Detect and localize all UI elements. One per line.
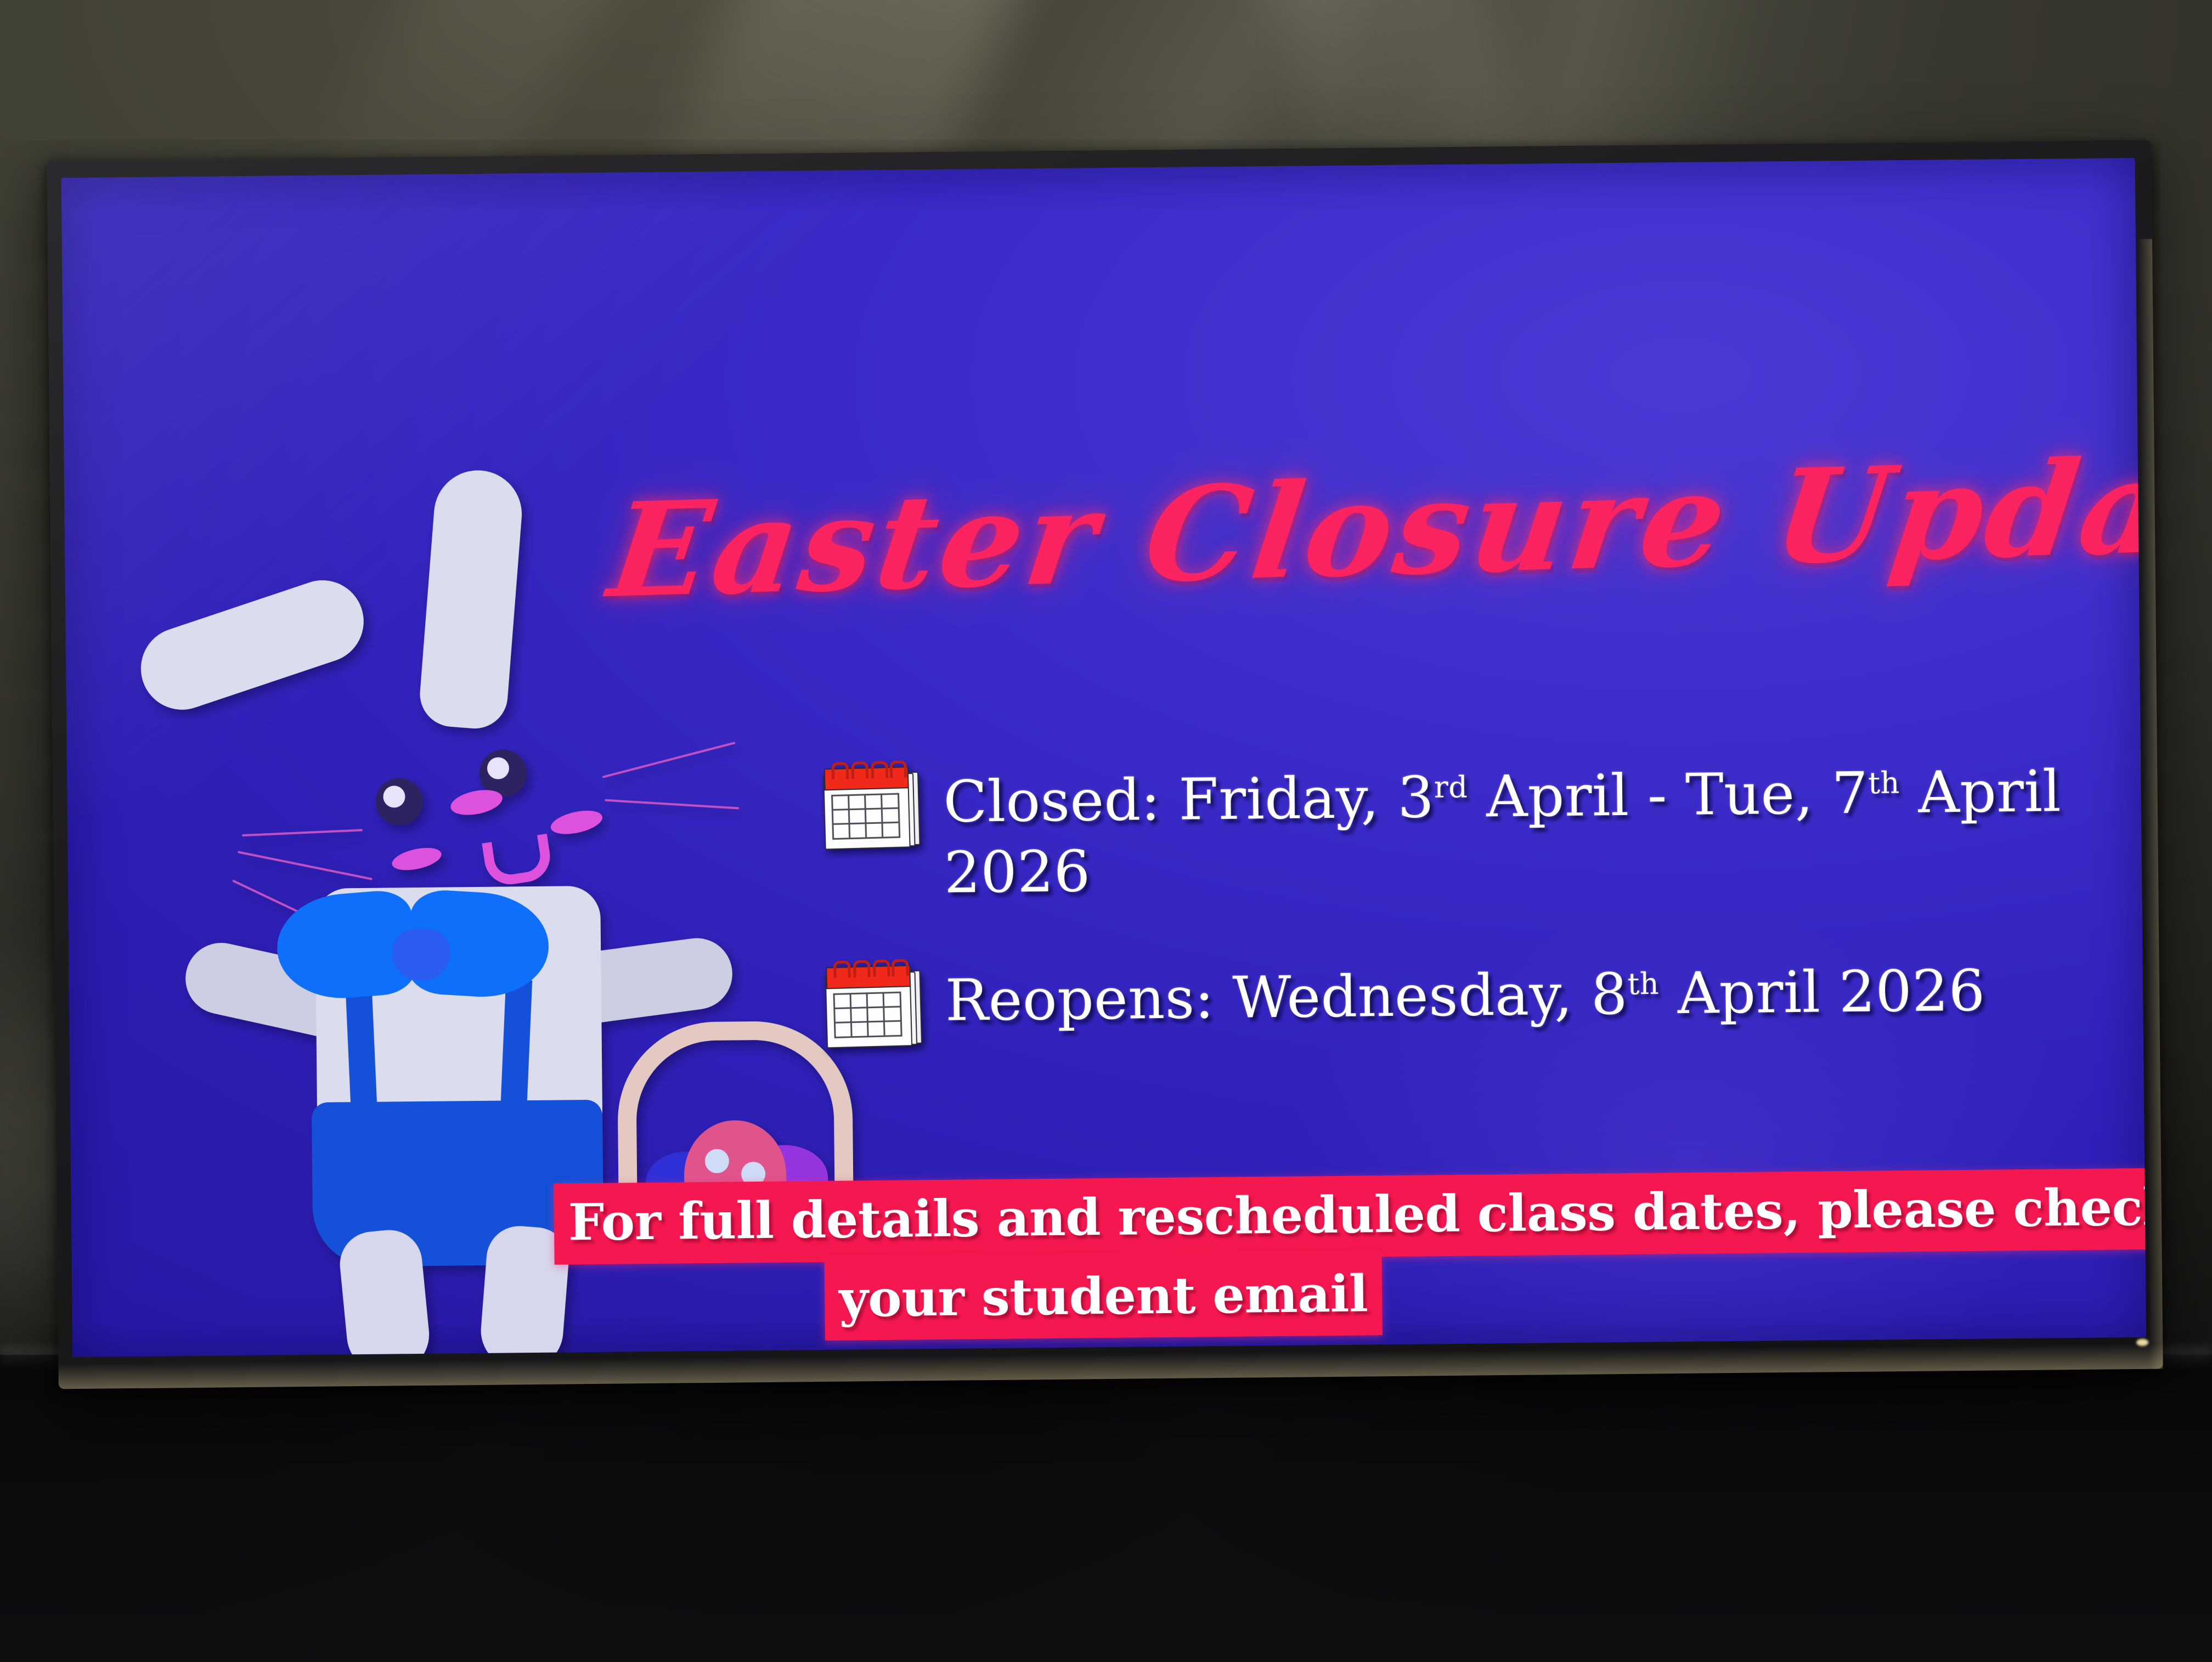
bullet-item-closed: Closed: Friday, 3rd April - Tue, 7th Apr… [821, 748, 2146, 909]
reopens-suffix: April 2026 [1659, 957, 1985, 1027]
bunny-eye-highlight [487, 757, 509, 779]
calendar-icon [820, 759, 919, 858]
closed-prefix: Closed: Friday, 3 [943, 764, 1435, 835]
lower-dark-area [0, 1355, 2212, 1662]
bunny-eye-highlight [383, 785, 405, 807]
closed-ordinal-2: th [1868, 765, 1900, 800]
bullet-text-reopens: Reopens: Wednesday, 8th April 2026 [945, 948, 1985, 1036]
tv-screen: Easter Closure Update [61, 158, 2146, 1357]
reopens-prefix: Reopens: Wednesday, 8 [945, 960, 1628, 1034]
closed-middle: April - Tue, 7 [1468, 760, 1869, 830]
closed-ordinal-1: rd [1434, 770, 1468, 805]
bunny-whisker [605, 799, 739, 810]
slide-title: Easter Closure Update [603, 448, 1951, 615]
calendar-icon [822, 957, 922, 1056]
banner-line-2: your student email [825, 1254, 1383, 1341]
highlighted-banner: For full details and rescheduled class d… [554, 1169, 2004, 1343]
bullet-item-reopens: Reopens: Wednesday, 8th April 2026 [823, 946, 2146, 1055]
wall-mounted-tv: Easter Closure Update [47, 140, 2163, 1389]
bullet-text-closed: Closed: Friday, 3rd April - Tue, 7th Apr… [943, 748, 2146, 908]
banner-line-1-wrap: For full details and rescheduled class d… [554, 1169, 2002, 1264]
bunny-whisker [602, 742, 736, 778]
slide-bullet-list: Closed: Friday, 3rd April - Tue, 7th Apr… [821, 748, 2146, 1105]
banner-line-1: For full details and rescheduled class d… [554, 1168, 2146, 1264]
egg-dot [705, 1149, 729, 1173]
reopens-ordinal-1: th [1627, 966, 1659, 1002]
bunny-left-eye [375, 778, 423, 826]
banner-line-2-wrap: your student email [555, 1248, 2004, 1343]
